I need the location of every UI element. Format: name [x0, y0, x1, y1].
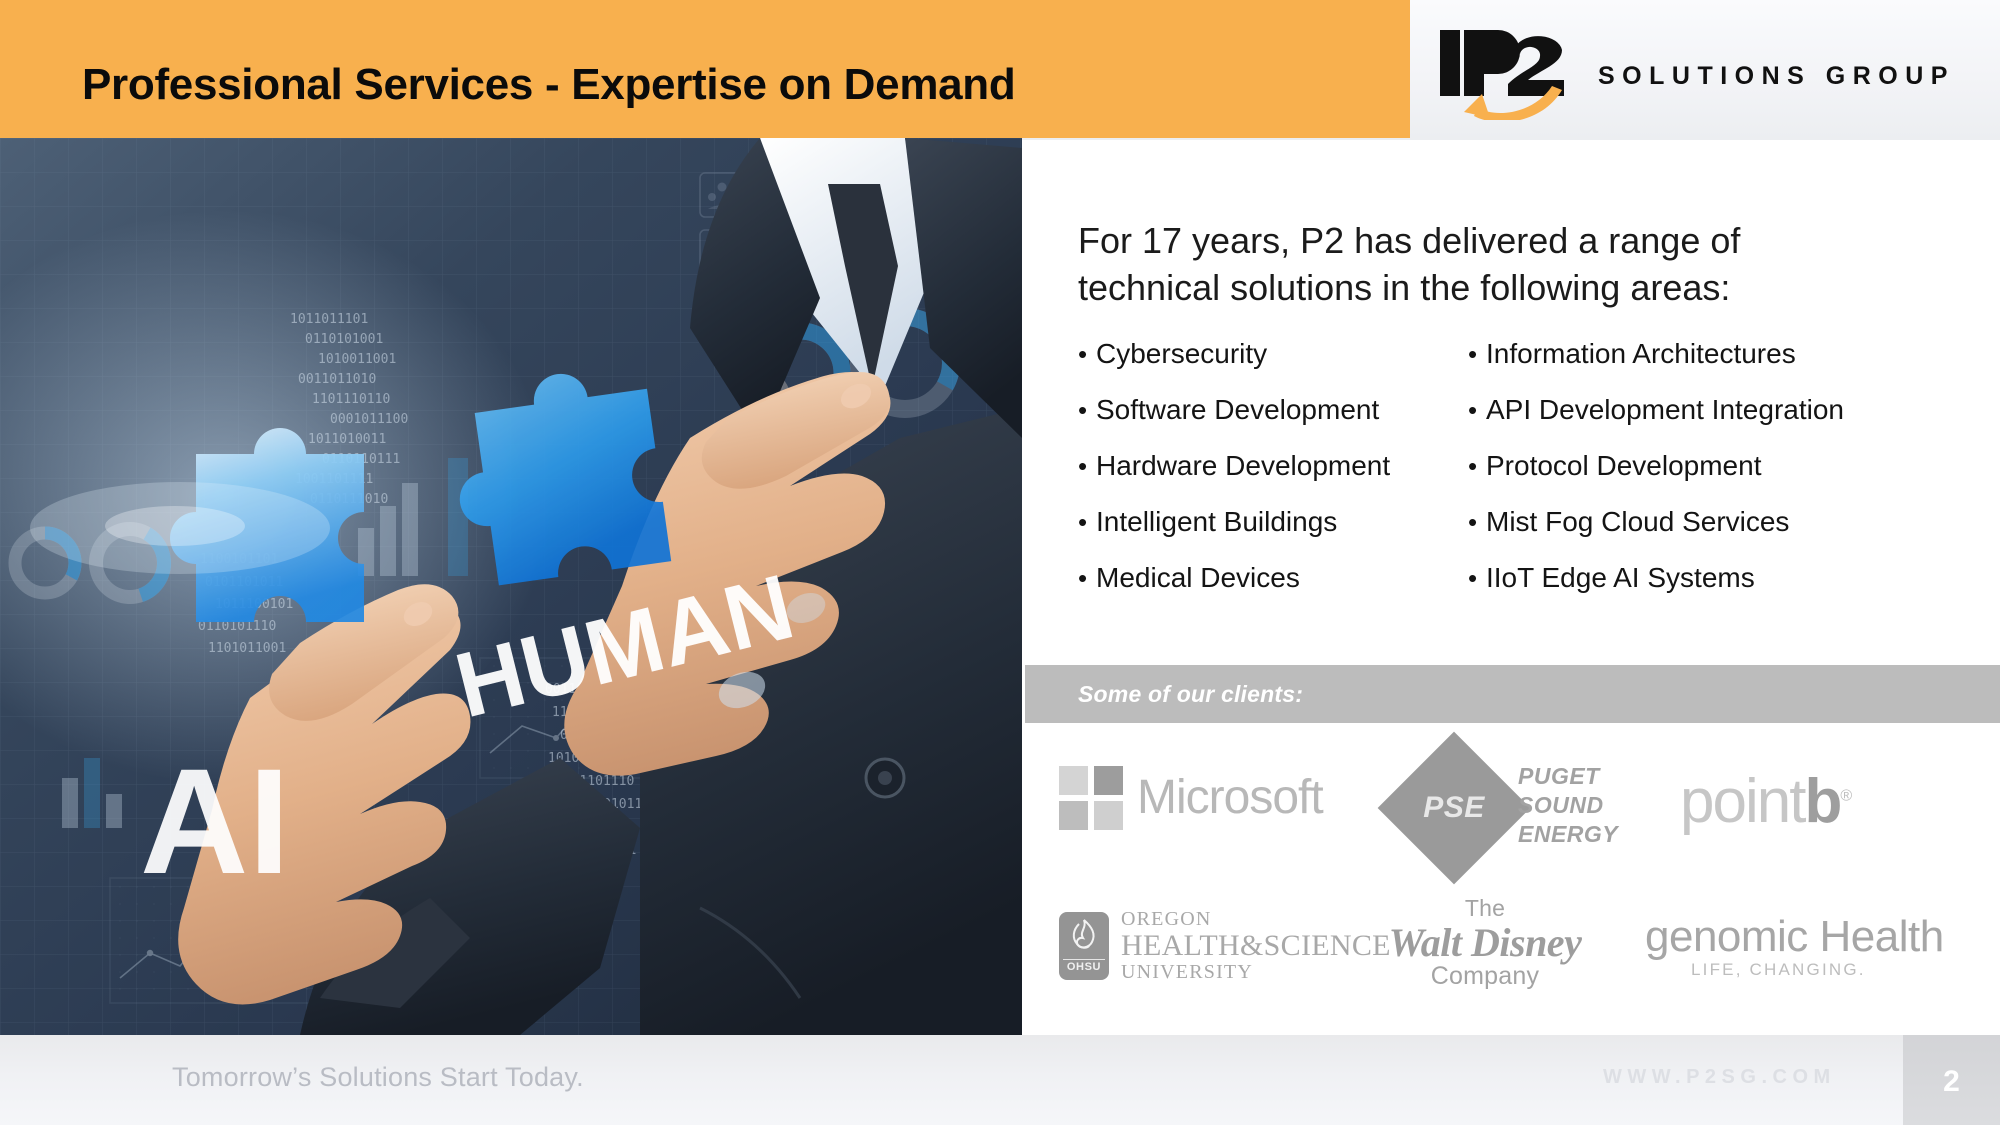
bullet-icon: • [1078, 565, 1096, 591]
hero-photo: 1011011101 0110101001 1010011001 0011011… [0, 138, 1022, 1035]
bullet-icon: • [1078, 397, 1096, 423]
intro-line-2: technical solutions in the following are… [1078, 265, 1938, 312]
pse-line-3: ENERGY [1518, 820, 1618, 849]
svg-text:0110101001: 0110101001 [305, 332, 383, 347]
disney-line-2: Walt Disney [1380, 922, 1590, 964]
list-item: •Cybersecurity [1078, 340, 1498, 368]
list-item-label: Protocol Development [1486, 450, 1761, 481]
list-item-label: Software Development [1096, 394, 1379, 425]
bullet-icon: • [1468, 509, 1486, 535]
bullet-icon: • [1468, 453, 1486, 479]
client-logo-point-b: pointb® [1680, 766, 1960, 856]
ohsu-badge-label: OHSU [1063, 959, 1105, 975]
svg-text:1010011001: 1010011001 [318, 352, 396, 367]
list-item-label: Mist Fog Cloud Services [1486, 506, 1789, 537]
pointb-wordmark: pointb® [1680, 766, 1850, 837]
client-logo-walt-disney: The Walt Disney Company [1380, 895, 1610, 1005]
footer-url: WWW.P2SG.COM [1603, 1066, 1836, 1089]
ohsu-shield-icon: OHSU [1059, 912, 1109, 980]
list-item: •Protocol Development [1468, 452, 1988, 480]
disney-line-3: Company [1380, 962, 1590, 991]
pointb-part-2: b [1804, 767, 1840, 836]
list-item-label: Cybersecurity [1096, 338, 1267, 369]
list-item: •Information Architectures [1468, 340, 1988, 368]
bullet-icon: • [1468, 397, 1486, 423]
list-item: •Intelligent Buildings [1078, 508, 1498, 536]
list-item-label: Medical Devices [1096, 562, 1300, 593]
list-item-label: IIoT Edge AI Systems [1486, 562, 1755, 593]
services-column-right: •Information Architectures •API Developm… [1468, 340, 1988, 620]
brand-wordmark: SOLUTIONS GROUP [1598, 62, 1955, 91]
client-logo-puget-sound-energy: PSE PUGET SOUND ENERGY [1390, 754, 1680, 864]
microsoft-wordmark: Microsoft [1137, 770, 1323, 825]
pse-wordmark: PUGET SOUND ENERGY [1518, 762, 1618, 848]
photo-label-ai: AI [140, 737, 290, 905]
intro-line-1: For 17 years, P2 has delivered a range o… [1078, 218, 1938, 265]
list-item: •API Development Integration [1468, 396, 1988, 424]
svg-text:1101110110: 1101110110 [312, 392, 390, 407]
page-number-box: 2 [1903, 1035, 2000, 1125]
ohsu-wordmark: OREGON HEALTH&SCIENCE UNIVERSITY [1121, 908, 1391, 984]
list-item-label: API Development Integration [1486, 394, 1844, 425]
page-title: Professional Services - Expertise on Dem… [82, 60, 1015, 110]
list-item: •Mist Fog Cloud Services [1468, 508, 1988, 536]
bullet-icon: • [1078, 509, 1096, 535]
genomic-health-tagline: LIFE, CHANGING. [1691, 960, 1944, 980]
ohsu-line-2: HEALTH&SCIENCE [1121, 929, 1391, 963]
microsoft-squares-icon [1059, 766, 1123, 830]
bullet-icon: • [1078, 453, 1096, 479]
page-number: 2 [1903, 1065, 2000, 1099]
pse-badge-label: PSE [1400, 754, 1508, 862]
client-logos-grid: Microsoft PSE PUGET SOUND ENERGY pointb® [1025, 740, 2000, 1030]
client-logo-ohsu: OHSU OREGON HEALTH&SCIENCE UNIVERSITY [1059, 908, 1379, 994]
pse-line-2: SOUND [1518, 791, 1618, 820]
genomic-health-wordmark: genomic Health LIFE, CHANGING. [1645, 912, 1944, 980]
services-column-left: •Cybersecurity •Software Development •Ha… [1078, 340, 1498, 620]
bullet-icon: • [1078, 341, 1096, 367]
list-item-label: Information Architectures [1486, 338, 1796, 369]
ohsu-line-1: OREGON [1121, 908, 1391, 931]
svg-text:0001011100: 0001011100 [330, 412, 408, 427]
list-item-label: Hardware Development [1096, 450, 1390, 481]
list-item: •Hardware Development [1078, 452, 1498, 480]
client-logo-genomic-health: genomic Health LIFE, CHANGING. [1645, 912, 1975, 998]
list-item: •Medical Devices [1078, 564, 1498, 592]
svg-text:1011010011: 1011010011 [308, 432, 386, 447]
clients-section-label: Some of our clients: [1078, 681, 1303, 708]
svg-text:1011011101: 1011011101 [290, 312, 368, 327]
svg-text:1101011001: 1101011001 [208, 641, 286, 656]
disney-wordmark: The Walt Disney Company [1380, 895, 1590, 991]
client-logo-microsoft: Microsoft [1059, 752, 1359, 844]
bullet-icon: • [1468, 565, 1486, 591]
disney-line-1: The [1380, 895, 1590, 922]
genomic-health-name: genomic Health [1645, 912, 1944, 962]
svg-text:0011011010: 0011011010 [298, 372, 376, 387]
clients-section-header: Some of our clients: [1025, 665, 2000, 723]
ohsu-line-3: UNIVERSITY [1121, 961, 1391, 984]
intro-paragraph: For 17 years, P2 has delivered a range o… [1078, 218, 1938, 312]
list-item: •Software Development [1078, 396, 1498, 424]
footer-tagline: Tomorrow’s Solutions Start Today. [172, 1062, 584, 1093]
list-item-label: Intelligent Buildings [1096, 506, 1337, 537]
pointb-part-1: point [1680, 767, 1804, 836]
list-item: •IIoT Edge AI Systems [1468, 564, 1988, 592]
p2-mark-icon [1438, 28, 1588, 120]
bullet-icon: • [1468, 341, 1486, 367]
pointb-registered-icon: ® [1840, 787, 1850, 804]
pse-line-1: PUGET [1518, 762, 1618, 791]
slide-root: Professional Services - Expertise on Dem… [0, 0, 2000, 1125]
